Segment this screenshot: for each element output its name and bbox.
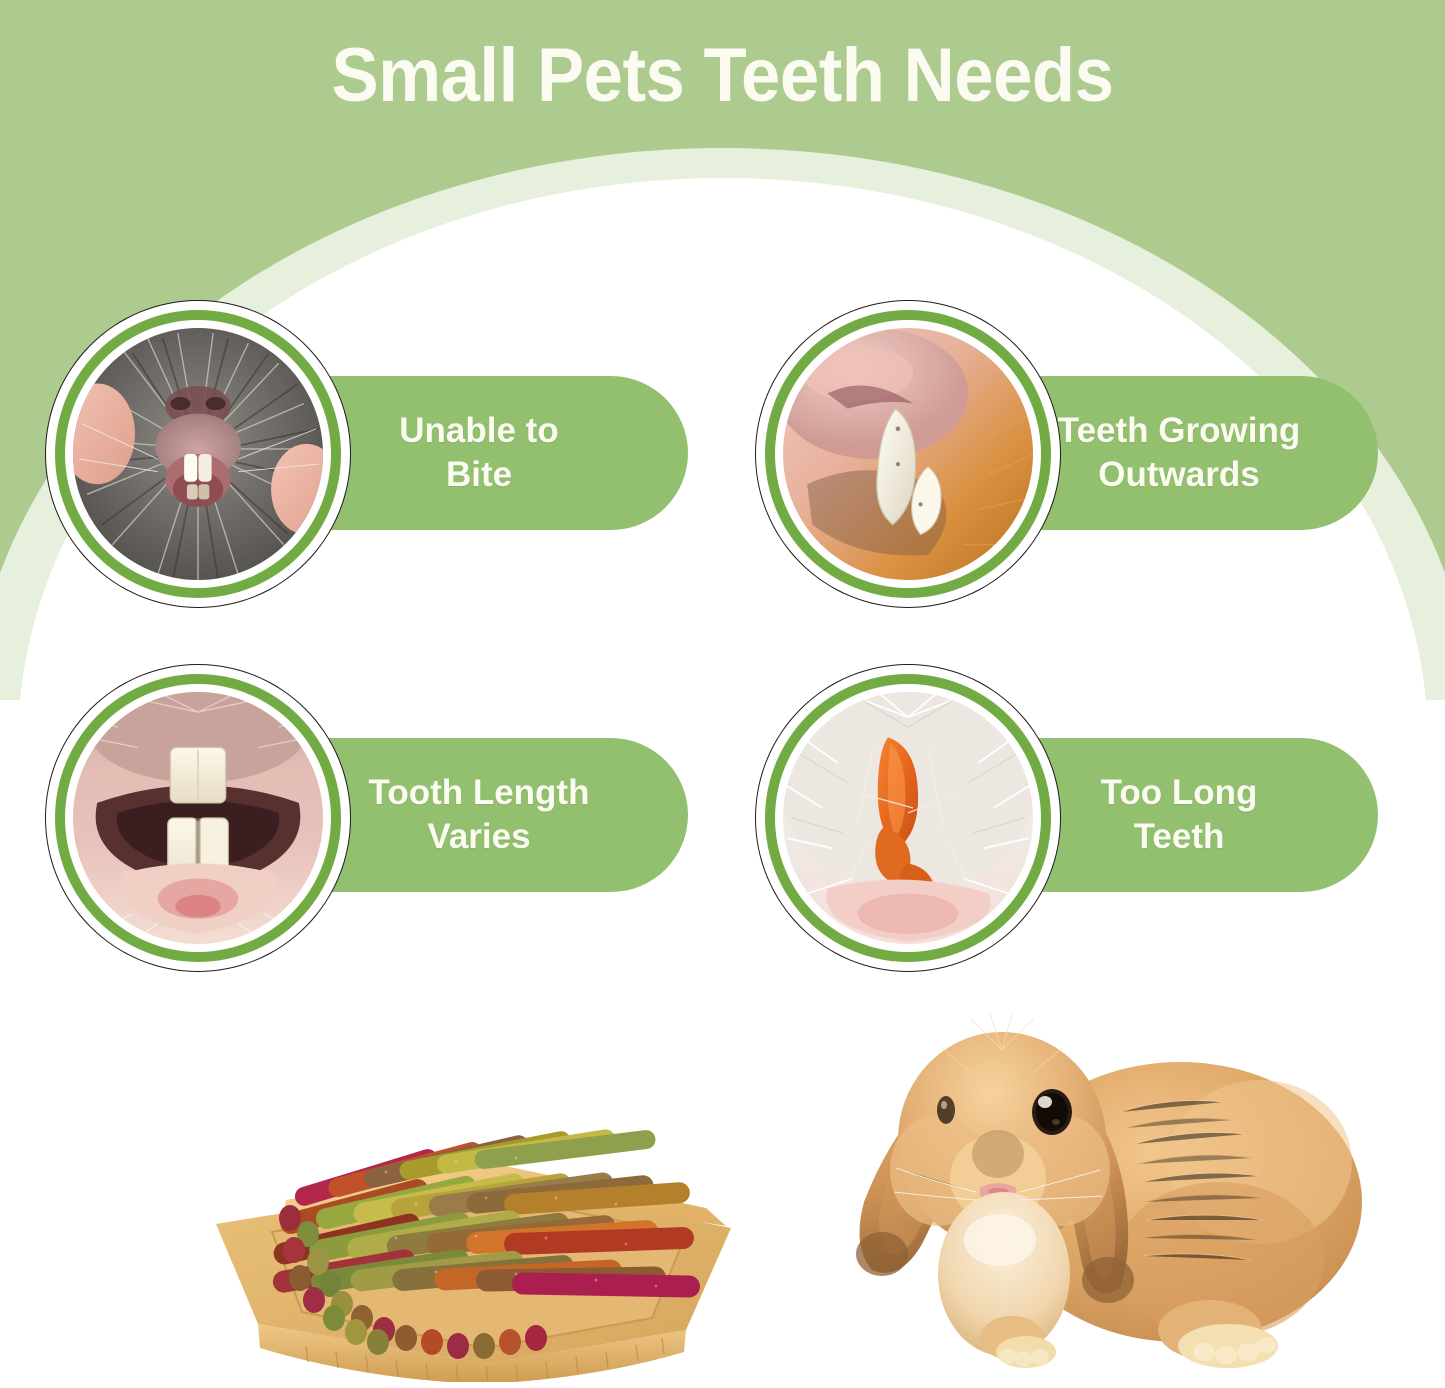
orange-overgrown-teeth-closeup-photo: [783, 692, 1033, 944]
badge-label: Tooth Length Varies: [316, 771, 688, 859]
tan-lop-eared-rabbit-image: [790, 992, 1380, 1384]
badge-label: Too Long Teeth: [1026, 771, 1378, 859]
badge-label: Unable to Bite: [316, 409, 688, 497]
badge-photo-ring-inner-white: [775, 320, 1041, 588]
badge-photo-ring-inner-white: [775, 684, 1041, 952]
rabbit-overgrown-incisors-closeup-photo: [783, 328, 1033, 580]
badge-photo-ring-outline: [45, 664, 351, 972]
page-title: Small Pets Teeth Needs: [51, 36, 1395, 116]
badge-photo-ring-green: [55, 310, 341, 598]
badge-photo-ring-outline: [755, 300, 1061, 608]
badge-photo-ring-outline: [45, 300, 351, 608]
badge-photo-ring-outline: [755, 664, 1061, 972]
badge-photo-ring-green: [765, 674, 1051, 962]
uneven-incisor-length-closeup-photo: [73, 692, 323, 944]
badge-photo-ring-inner-white: [65, 684, 331, 952]
badge-photo-ring-green: [55, 674, 341, 962]
bamboo-tray-of-chew-sticks-image: [186, 1012, 756, 1382]
infographic-canvas: Small Pets Teeth Needs Unable to Bite: [0, 0, 1445, 1388]
badge-photo-ring-green: [765, 310, 1051, 598]
chinchilla-incisors-closeup-photo: [73, 328, 323, 580]
badge-label: Teeth Growing Outwards: [1026, 409, 1378, 497]
badge-photo-ring-inner-white: [65, 320, 331, 588]
